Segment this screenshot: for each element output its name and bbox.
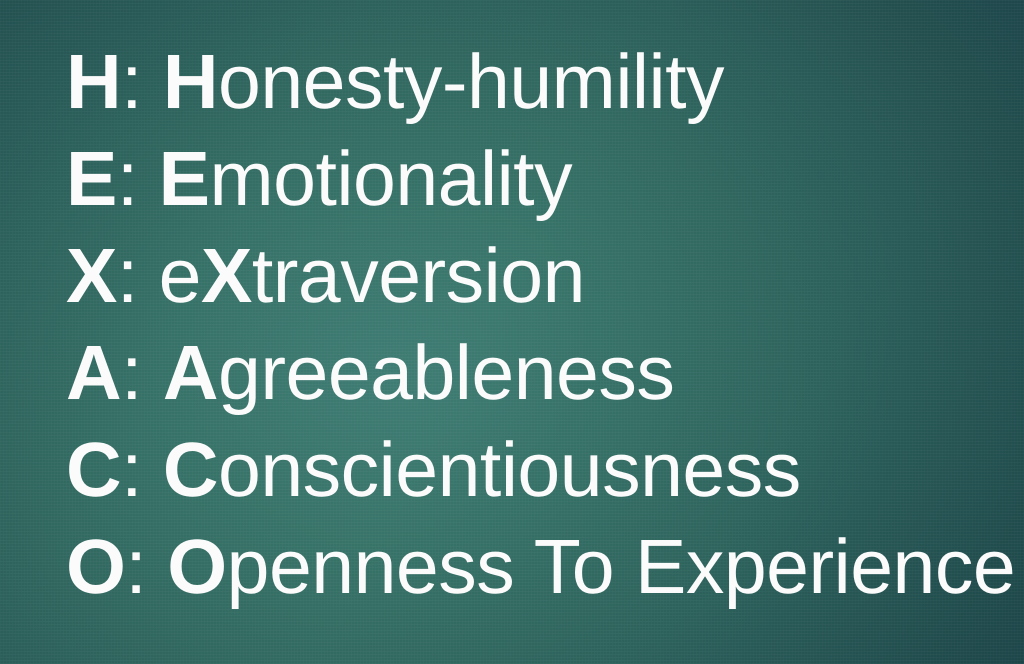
acronym-line-e: E: Emotionality: [66, 131, 1004, 228]
acronym-list: H: Honesty-humility E: Emotionality X: e…: [66, 34, 1004, 616]
acronym-word-prefix-x: e: [159, 233, 201, 319]
acronym-word-head-h: H: [163, 39, 218, 125]
acronym-colon-x: :: [117, 233, 138, 319]
acronym-word-head-c: C: [163, 427, 218, 513]
acronym-initial-o: O: [66, 524, 125, 610]
acronym-colon-o: :: [125, 524, 146, 610]
acronym-word-tail-o: penness To Experience: [227, 524, 1016, 610]
acronym-word-tail-e: motionality: [210, 136, 573, 222]
acronym-space-c: [142, 427, 163, 513]
acronym-space-x: [138, 233, 159, 319]
acronym-colon-e: :: [117, 136, 138, 222]
acronym-word-head-x: X: [201, 233, 252, 319]
acronym-line-c: C: Conscientiousness: [66, 422, 1004, 519]
acronym-word-tail-h: onesty-humility: [218, 39, 724, 125]
acronym-line-a: A: Agreeableness: [66, 325, 1004, 422]
acronym-space-e: [138, 136, 159, 222]
acronym-colon-c: :: [121, 427, 142, 513]
acronym-initial-h: H: [66, 39, 121, 125]
acronym-colon-a: :: [121, 330, 142, 416]
acronym-initial-x: X: [66, 233, 117, 319]
acronym-word-head-e: E: [159, 136, 210, 222]
acronym-word-tail-x: traversion: [252, 233, 585, 319]
acronym-word-tail-c: onscientiousness: [218, 427, 801, 513]
acronym-initial-c: C: [66, 427, 121, 513]
acronym-word-tail-a: greeableness: [218, 330, 674, 416]
acronym-line-o: O: Openness To Experience: [66, 519, 1004, 616]
acronym-colon-h: :: [121, 39, 142, 125]
acronym-space-h: [142, 39, 163, 125]
acronym-space-a: [142, 330, 163, 416]
hexaco-acronym-slide: H: Honesty-humility E: Emotionality X: e…: [0, 0, 1024, 664]
acronym-word-head-a: A: [163, 330, 218, 416]
acronym-word-head-o: O: [167, 524, 226, 610]
acronym-line-h: H: Honesty-humility: [66, 34, 1004, 131]
acronym-space-o: [146, 524, 167, 610]
acronym-initial-e: E: [66, 136, 117, 222]
acronym-line-x: X: eXtraversion: [66, 228, 1004, 325]
acronym-initial-a: A: [66, 330, 121, 416]
